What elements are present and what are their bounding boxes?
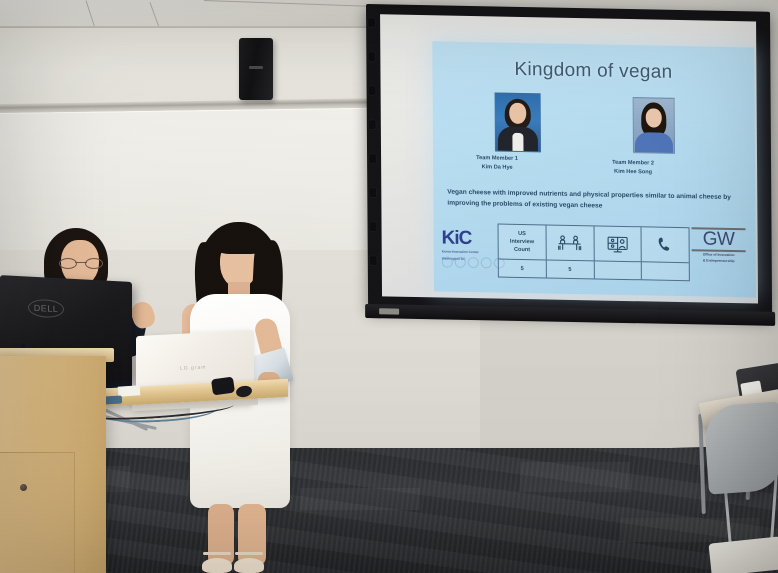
table-value-1: 5 (547, 261, 595, 279)
team-member-2-caption: Team Member 2 Kim Hee Song (578, 158, 688, 177)
kic-letters: KiC (442, 227, 472, 249)
member-name: Kim Hee Song (578, 167, 688, 178)
presenter-right-leg (238, 504, 266, 566)
headset-dongle (211, 377, 235, 396)
phone-call-icon (642, 227, 689, 263)
kic-wordmark: KiC (442, 228, 494, 248)
table-header-row: US Interview Count (499, 225, 689, 264)
video-call-icon (594, 226, 642, 262)
podium-panel (0, 452, 75, 573)
laptop-badge: LG gram (180, 364, 206, 371)
projector-screen: Kingdom of vegan Team Member 1 Kim Da Hy… (366, 4, 772, 318)
speaker-slot (249, 66, 263, 69)
photo-shirt (512, 133, 523, 151)
slide-body-text: Vegan cheese with improved nutrients and… (447, 188, 743, 215)
team-member-2-photo (633, 97, 675, 154)
gw-subtitle-line1: Office of Innovation (690, 252, 748, 258)
kic-logo: KiC Korea Innovation Center Washington D… (442, 228, 494, 262)
screen-surface: Kingdom of vegan Team Member 1 Kim Da Hy… (380, 14, 758, 303)
photo-face (509, 103, 526, 124)
table-value-3 (642, 263, 689, 281)
table-value-row: 5 5 (499, 260, 689, 280)
white-object-floor (708, 536, 778, 573)
gw-wordmark: GW (690, 229, 748, 250)
table-value-0: 5 (499, 260, 547, 278)
right-shoe (234, 558, 264, 573)
carpet-patch (520, 462, 630, 492)
carpet-patch (300, 488, 420, 510)
table-header-count: US Interview Count (499, 225, 547, 261)
screen-tension-hooks (368, 18, 379, 288)
slide-title: Kingdom of vegan (432, 57, 754, 85)
presenter-left-leg (208, 504, 234, 566)
photo-face (646, 108, 662, 127)
slide-nav-pills (442, 256, 505, 268)
kic-subtitle-line1: Korea Innovation Center (442, 249, 494, 255)
interview-count-table: US Interview Count (498, 224, 690, 282)
podium-lock-knob (20, 484, 27, 491)
shoe-strap (235, 552, 263, 555)
shoe-strap (203, 552, 231, 555)
gw-subtitle-line2: & Entrepreneurship (690, 258, 748, 264)
team-member-1-photo (495, 92, 541, 152)
member-name: Kim Da Hye (442, 162, 552, 173)
classroom-presentation-photo: Kingdom of vegan Team Member 1 Kim Da Hy… (0, 0, 778, 573)
in-person-meeting-icon (546, 225, 594, 261)
left-shoe (202, 558, 232, 573)
table-value-2 (594, 262, 642, 280)
gw-logo: GW Office of Innovation & Entrepreneursh… (690, 227, 748, 265)
presentation-slide: Kingdom of vegan Team Member 1 Kim Da Hy… (432, 41, 756, 297)
team-member-1-caption: Team Member 1 Kim Da Hye (442, 153, 552, 172)
eyeglasses (59, 258, 103, 267)
monitor-brand-logo: DELL (28, 299, 64, 319)
cable-plug (104, 396, 122, 405)
wall-speaker (239, 38, 273, 100)
screen-latch (379, 308, 399, 314)
table-header-label: US Interview Count (510, 230, 534, 255)
carpet-floor (0, 448, 778, 573)
photo-body (635, 132, 673, 153)
slide-bottom-strip: KiC Korea Innovation Center Washington D… (442, 222, 748, 283)
carpet-patch (620, 518, 760, 542)
grey-chair (703, 401, 778, 494)
